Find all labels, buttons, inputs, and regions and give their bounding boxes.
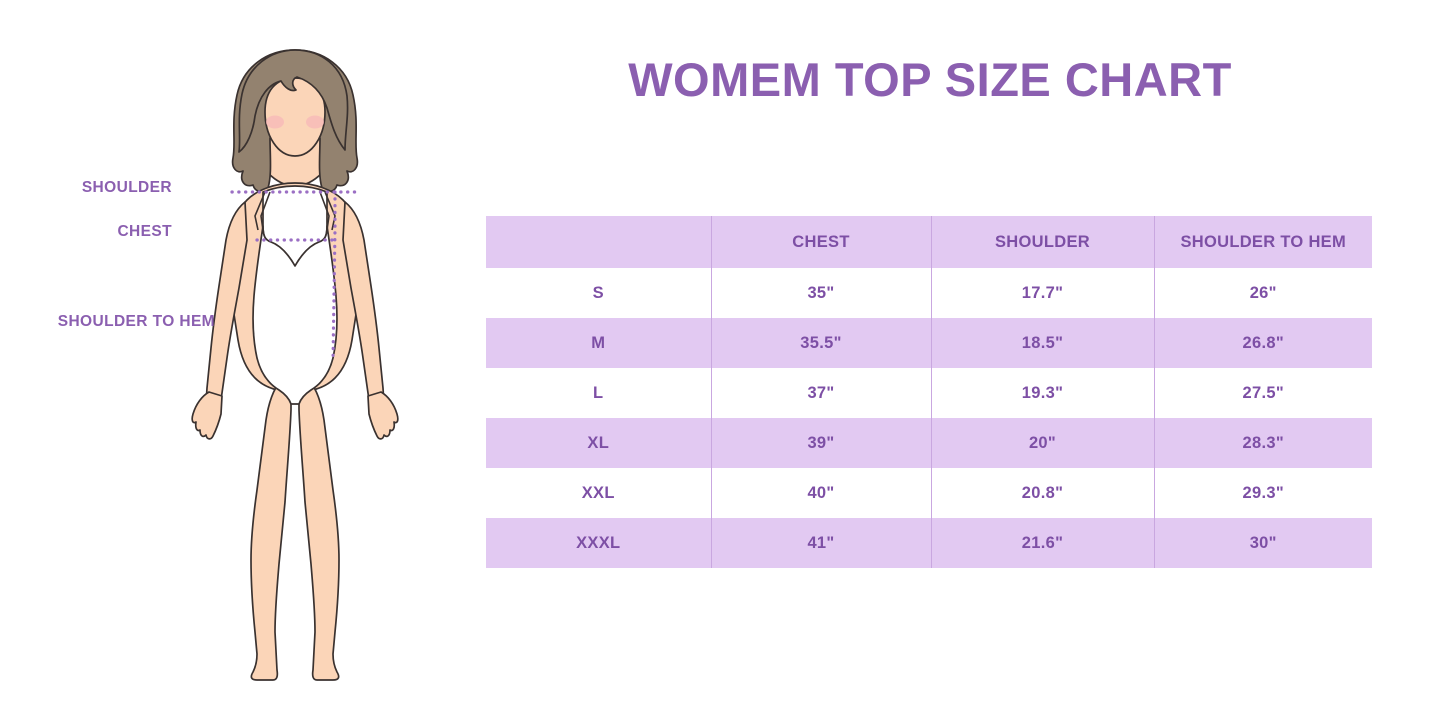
leg-left — [251, 378, 291, 680]
female-figure-illustration: .sk { fill:#fbd5b8; stroke:#3a3230; stro… — [175, 40, 415, 690]
size-chart-table: CHEST SHOULDER SHOULDER TO HEM S 35" 17.… — [486, 216, 1372, 568]
column-header-size — [486, 216, 711, 268]
cell-chest: 39" — [711, 418, 931, 468]
blush-left — [266, 116, 284, 129]
measure-label-shoulder: SHOULDER — [0, 179, 172, 197]
blush-right — [306, 116, 324, 129]
table-row: M 35.5" 18.5" 26.8" — [486, 318, 1372, 368]
cell-size: XXL — [486, 468, 711, 518]
cell-size: XXXL — [486, 518, 711, 568]
cell-chest: 35.5" — [711, 318, 931, 368]
measure-label-chest: CHEST — [0, 223, 172, 241]
cell-shoulder-to-hem: 30" — [1154, 518, 1372, 568]
cell-shoulder-to-hem: 26" — [1154, 268, 1372, 318]
cell-shoulder: 20" — [931, 418, 1154, 468]
cell-shoulder-to-hem: 28.3" — [1154, 418, 1372, 468]
column-header-chest: CHEST — [711, 216, 931, 268]
cell-size: S — [486, 268, 711, 318]
hand-left — [192, 392, 222, 439]
table-row: L 37" 19.3" 27.5" — [486, 368, 1372, 418]
table-header: CHEST SHOULDER SHOULDER TO HEM — [486, 216, 1372, 268]
cell-shoulder: 20.8" — [931, 468, 1154, 518]
table-body: S 35" 17.7" 26" M 35.5" 18.5" 26.8" L 37… — [486, 268, 1372, 568]
leg-right — [299, 378, 339, 680]
table-row: XL 39" 20" 28.3" — [486, 418, 1372, 468]
illustration-panel: .sk { fill:#fbd5b8; stroke:#3a3230; stro… — [0, 0, 470, 723]
table-row: XXXL 41" 21.6" 30" — [486, 518, 1372, 568]
cell-chest: 41" — [711, 518, 931, 568]
cell-size: L — [486, 368, 711, 418]
cell-size: M — [486, 318, 711, 368]
cell-shoulder: 17.7" — [931, 268, 1154, 318]
page-title: WOMEM TOP SIZE CHART — [480, 52, 1380, 107]
cell-shoulder-to-hem: 27.5" — [1154, 368, 1372, 418]
size-chart-page: WOMEM TOP SIZE CHART .sk { fill:#fbd5b8;… — [0, 0, 1445, 723]
cell-shoulder: 21.6" — [931, 518, 1154, 568]
cell-chest: 40" — [711, 468, 931, 518]
measure-label-shoulder-to-hem: SHOULDER TO HEM — [0, 313, 215, 331]
column-header-shoulder: SHOULDER — [931, 216, 1154, 268]
table-row: S 35" 17.7" 26" — [486, 268, 1372, 318]
table-header-row: CHEST SHOULDER SHOULDER TO HEM — [486, 216, 1372, 268]
cell-chest: 37" — [711, 368, 931, 418]
cell-shoulder: 19.3" — [931, 368, 1154, 418]
cell-shoulder-to-hem: 26.8" — [1154, 318, 1372, 368]
cell-chest: 35" — [711, 268, 931, 318]
cell-shoulder: 18.5" — [931, 318, 1154, 368]
column-header-shoulder-to-hem: SHOULDER TO HEM — [1154, 216, 1372, 268]
cell-shoulder-to-hem: 29.3" — [1154, 468, 1372, 518]
cell-size: XL — [486, 418, 711, 468]
hand-right — [368, 392, 398, 439]
table-row: XXL 40" 20.8" 29.3" — [486, 468, 1372, 518]
